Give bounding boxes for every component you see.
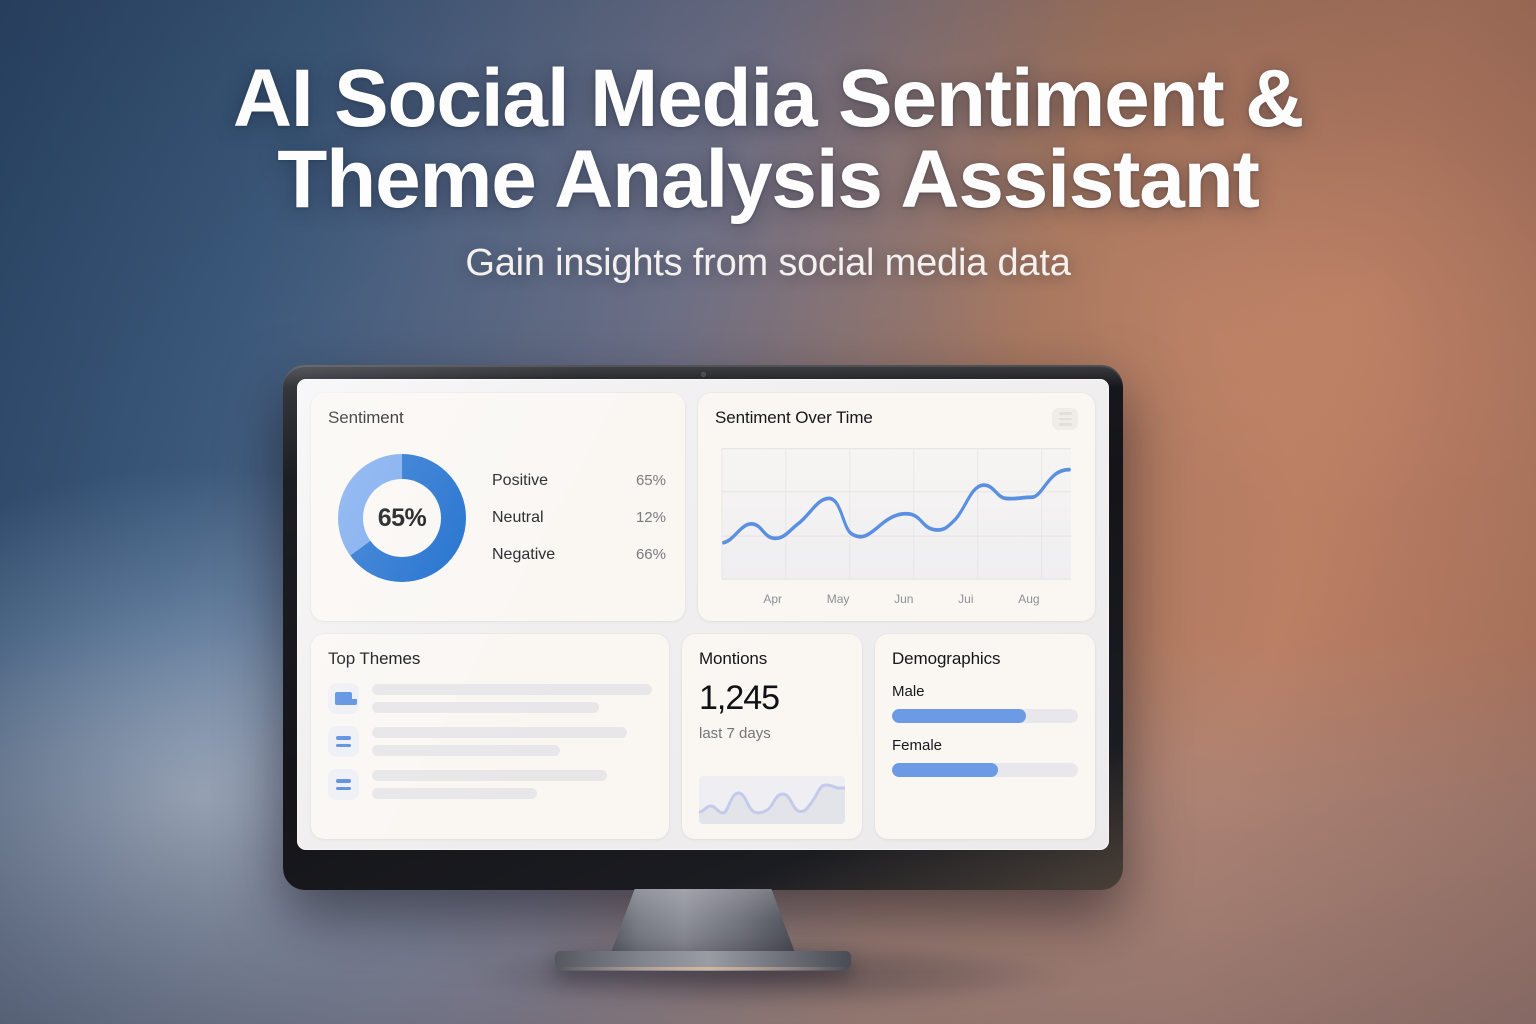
- x-tick-may: May: [827, 592, 850, 606]
- mentions-caption: last 7 days: [699, 725, 845, 742]
- dashboard: Sentiment 65% P: [297, 379, 1109, 850]
- hamburger-line: [1059, 412, 1072, 414]
- demographics-label-female: Female: [892, 737, 1078, 754]
- dashboard-row-bottom: Top Themes: [311, 634, 1095, 839]
- progress-fill-female: [892, 763, 998, 777]
- legend-label-neutral: Neutral: [492, 509, 544, 527]
- card-sentiment: Sentiment 65% P: [311, 393, 685, 621]
- list-lines-icon: [328, 769, 359, 800]
- demographics-label-male: Male: [892, 683, 1078, 700]
- theme-placeholder-lines: [372, 684, 652, 713]
- sentiment-donut-chart: 65%: [338, 454, 466, 582]
- list-lines-shape: [336, 736, 351, 747]
- monitor-screen: Sentiment 65% P: [297, 379, 1109, 850]
- x-tick-jun: Jun: [894, 592, 913, 606]
- donut-center-value: 65%: [378, 504, 427, 533]
- list-item[interactable]: [328, 769, 652, 800]
- card-sentiment-over-time: Sentiment Over Time: [698, 393, 1095, 621]
- list-item[interactable]: [328, 726, 652, 757]
- skeleton-line: [372, 702, 599, 713]
- list-line: [336, 787, 351, 791]
- sentiment-over-time-title: Sentiment Over Time: [715, 408, 873, 428]
- list-line: [336, 736, 351, 740]
- demographics-title: Demographics: [892, 649, 1078, 669]
- progress-track-male: [892, 709, 1078, 723]
- legend-value-negative: 66%: [636, 546, 666, 563]
- legend-row-positive: Positive 65%: [492, 472, 666, 490]
- sentiment-over-time-header: Sentiment Over Time: [715, 408, 1078, 430]
- x-tick-aug: Aug: [1018, 592, 1039, 606]
- monitor-stand-base: [555, 951, 851, 971]
- list-lines-shape: [336, 779, 351, 790]
- chat-bubble-shape: [335, 692, 352, 705]
- donut-ring: 65%: [338, 454, 466, 582]
- donut-center: 65%: [363, 479, 441, 557]
- list-item[interactable]: [328, 683, 652, 714]
- hamburger-line: [1059, 423, 1072, 425]
- sparkline-svg: [699, 776, 845, 824]
- progress-fill-male: [892, 709, 1026, 723]
- chat-bubble-icon: [328, 683, 359, 714]
- mentions-title: Montions: [699, 649, 845, 669]
- list-line: [336, 744, 351, 748]
- skeleton-line: [372, 770, 607, 781]
- legend-row-negative: Negative 66%: [492, 546, 666, 564]
- card-mentions: Montions 1,245 last 7 days: [682, 634, 862, 839]
- x-tick-apr: Apr: [763, 592, 782, 606]
- legend-row-neutral: Neutral 12%: [492, 509, 666, 527]
- top-themes-list: [328, 683, 652, 800]
- card-demographics: Demographics Male Female: [875, 634, 1095, 839]
- skeleton-line: [372, 788, 537, 799]
- demographics-item-male: Male: [892, 683, 1078, 723]
- monitor-mockup: Sentiment 65% P: [283, 365, 1123, 890]
- sentiment-line-chart: [715, 442, 1078, 588]
- dashboard-row-top: Sentiment 65% P: [311, 393, 1095, 621]
- list-lines-icon: [328, 726, 359, 757]
- legend-value-positive: 65%: [636, 472, 666, 489]
- list-line: [336, 779, 351, 783]
- webcam-icon: [701, 372, 706, 377]
- theme-placeholder-lines: [372, 727, 652, 756]
- legend-value-neutral: 12%: [636, 509, 666, 526]
- sentiment-legend: Positive 65% Neutral 12% Negative 66%: [476, 472, 668, 564]
- mentions-sparkline: [699, 776, 845, 824]
- mentions-value: 1,245: [699, 681, 845, 715]
- skeleton-line: [372, 727, 627, 738]
- card-top-themes: Top Themes: [311, 634, 669, 839]
- theme-placeholder-lines: [372, 770, 652, 799]
- sentiment-card-title: Sentiment: [328, 408, 668, 428]
- line-chart-x-axis: Apr May Jun Jui Aug: [715, 592, 1078, 606]
- hamburger-icon[interactable]: [1052, 408, 1078, 430]
- line-chart-svg: [715, 442, 1078, 588]
- skeleton-line: [372, 684, 652, 695]
- progress-track-female: [892, 763, 1078, 777]
- sentiment-card-body: 65% Positive 65% Neutral: [328, 430, 668, 606]
- monitor-bezel: Sentiment 65% P: [283, 365, 1123, 890]
- x-tick-jui: Jui: [958, 592, 973, 606]
- skeleton-line: [372, 745, 560, 756]
- legend-label-positive: Positive: [492, 472, 548, 490]
- hamburger-line: [1059, 418, 1072, 420]
- demographics-item-female: Female: [892, 737, 1078, 777]
- legend-label-negative: Negative: [492, 546, 555, 564]
- top-themes-title: Top Themes: [328, 649, 652, 669]
